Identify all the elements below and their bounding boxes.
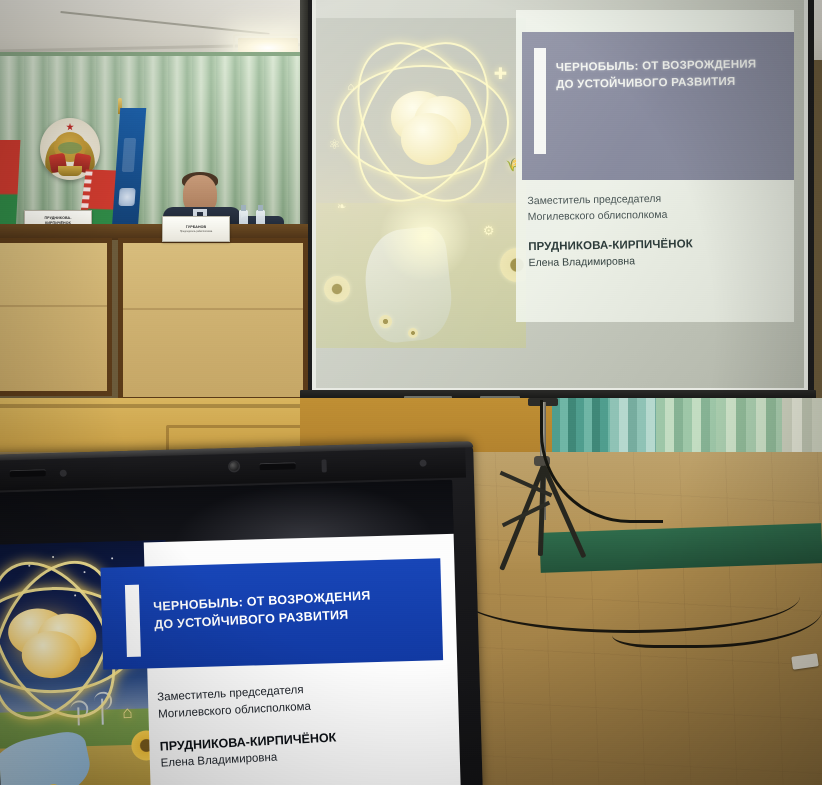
atom-icon: ⚛ (329, 137, 341, 153)
slide-accent-bar-projected (534, 48, 546, 154)
nameplate-right: ГУРБАНОВ Председатель райисполкома (162, 216, 230, 242)
house-icon: ⌂ (348, 81, 355, 93)
flag-emblem-icon (118, 188, 135, 206)
laptop-vent (321, 459, 326, 472)
projection-screen-canvas: ✚ ⌂ ⚙ 🌾 ❧ ⚛ ЧЕРНОБЫЛЬ: ОТ ВОЗРОЖДЕНИЯ ДО… (316, 0, 804, 388)
presidium-panel-right (118, 238, 308, 402)
slide-subtitle-laptop: Заместитель председателя Могилевского об… (157, 675, 451, 774)
leaf-icon: ❧ (337, 200, 346, 213)
laptop-screen[interactable]: ✚ ⌂ 🌾 ЧЕРНОБЫЛЬ: ОТ ВОЗРОЖДЕНИЯ ДО УСТОЙ… (0, 480, 461, 785)
laptop[interactable]: ✚ ⌂ 🌾 ЧЕРНОБЫЛЬ: ОТ ВОЗРОЖДЕНИЯ ДО УСТОЙ… (0, 441, 489, 785)
emblem-star-icon (66, 123, 74, 131)
presidium-panel-left (0, 238, 112, 396)
slide-artwork-projected: ✚ ⌂ ⚙ 🌾 ❧ ⚛ (316, 18, 526, 348)
star-icon (111, 557, 113, 559)
gear-icon: ⚙ (483, 223, 495, 239)
cross-icon: ✚ (494, 64, 507, 84)
atom-nucleon (401, 113, 458, 164)
laptop-latch (10, 469, 46, 477)
artwork-atom (337, 35, 505, 207)
slide-accent-bar-laptop (125, 585, 141, 657)
slide-title-band-projected (522, 32, 794, 180)
nameplate-subtitle: Председатель райисполкома (178, 230, 214, 233)
laptop-latch (260, 462, 296, 470)
slide-subtitle-projected: Заместитель председателя Могилевского об… (527, 190, 778, 272)
house-icon: ⌂ (122, 703, 133, 723)
flag-text-strip (122, 138, 136, 172)
slide-title-projected: ЧЕРНОБЫЛЬ: ОТ ВОЗРОЖДЕНИЯ ДО УСТОЙЧИВОГО… (556, 56, 787, 93)
emblem-base (58, 166, 82, 176)
screen-reflection (172, 480, 433, 541)
photo-scene: ПРУДНИКОВА- КИРПИЧЁНОК Заместитель предс… (0, 0, 822, 785)
